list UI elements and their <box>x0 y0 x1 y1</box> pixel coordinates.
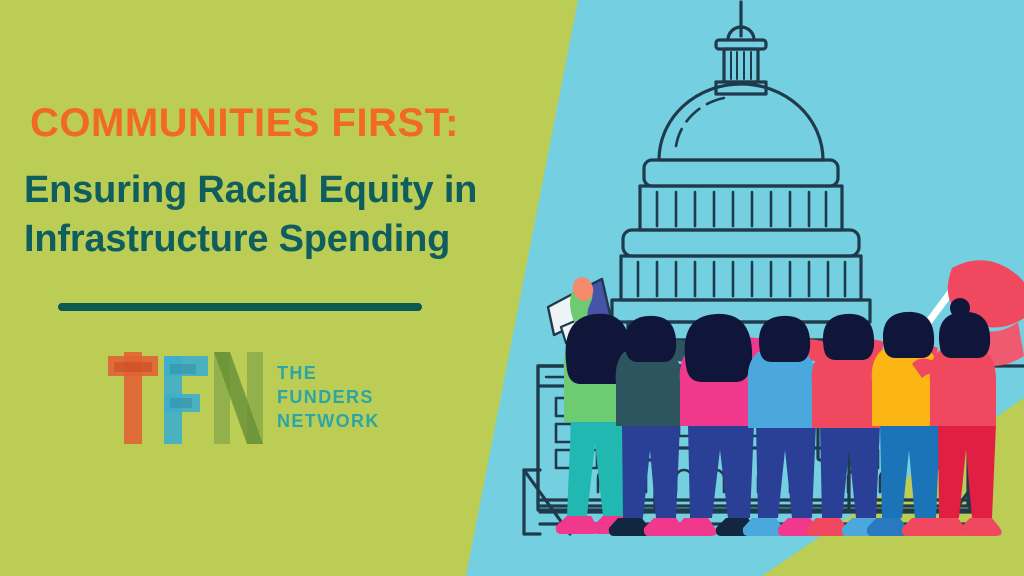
person-3-shoe-left <box>675 518 717 536</box>
person-6-hair <box>883 312 934 358</box>
dome-lantern-body <box>724 49 758 82</box>
logo-letter-t <box>108 352 158 444</box>
person-4-torso <box>748 352 816 428</box>
person-5-torso <box>812 352 880 428</box>
person-7-hair <box>939 312 990 358</box>
person-7-shoe-right <box>960 518 1002 536</box>
person-3-hair <box>685 314 752 382</box>
person-6-legs <box>880 424 940 518</box>
person-5-hair <box>823 314 874 360</box>
page-title-headline: COMMUNITIES FIRST: <box>30 103 459 143</box>
logo-letter-n <box>214 352 263 444</box>
poster-canvas: COMMUNITIES FIRST: Ensuring Racial Equit… <box>0 0 1024 576</box>
colonnade-upper <box>640 186 842 230</box>
person-4-legs <box>756 424 816 518</box>
drum-lower-columns <box>638 262 845 296</box>
title-divider-rule <box>58 303 422 311</box>
logo-letter-f <box>164 356 208 444</box>
subtitle-line-2: Infrastructure Spending <box>24 215 544 264</box>
tfn-logo-mark <box>108 352 263 444</box>
logo-word-network: NETWORK <box>277 410 380 434</box>
person-2-legs <box>622 424 680 518</box>
subtitle-line-1: Ensuring Racial Equity in <box>24 166 544 215</box>
person-7-torso <box>930 350 996 426</box>
tfn-letters <box>108 352 263 444</box>
person-4-hair <box>759 316 810 362</box>
tfn-logo-wordmark: THE FUNDERS NETWORK <box>277 362 380 434</box>
person-1-shoe-left <box>556 516 598 534</box>
tfn-logo: THE FUNDERS NETWORK <box>108 352 380 444</box>
dome-ring-upper <box>644 160 838 186</box>
person-2-torso <box>616 352 682 426</box>
dome-ring-lower <box>623 230 859 256</box>
logo-word-funders: FUNDERS <box>277 386 380 410</box>
person-2-hair <box>625 316 676 362</box>
text-column: COMMUNITIES FIRST: Ensuring Racial Equit… <box>0 0 560 576</box>
page-subtitle: Ensuring Racial Equity in Infrastructure… <box>24 166 544 263</box>
colonnade-upper-columns <box>657 192 826 226</box>
logo-word-the: THE <box>277 362 380 386</box>
person-7-hair-bun <box>950 298 970 318</box>
